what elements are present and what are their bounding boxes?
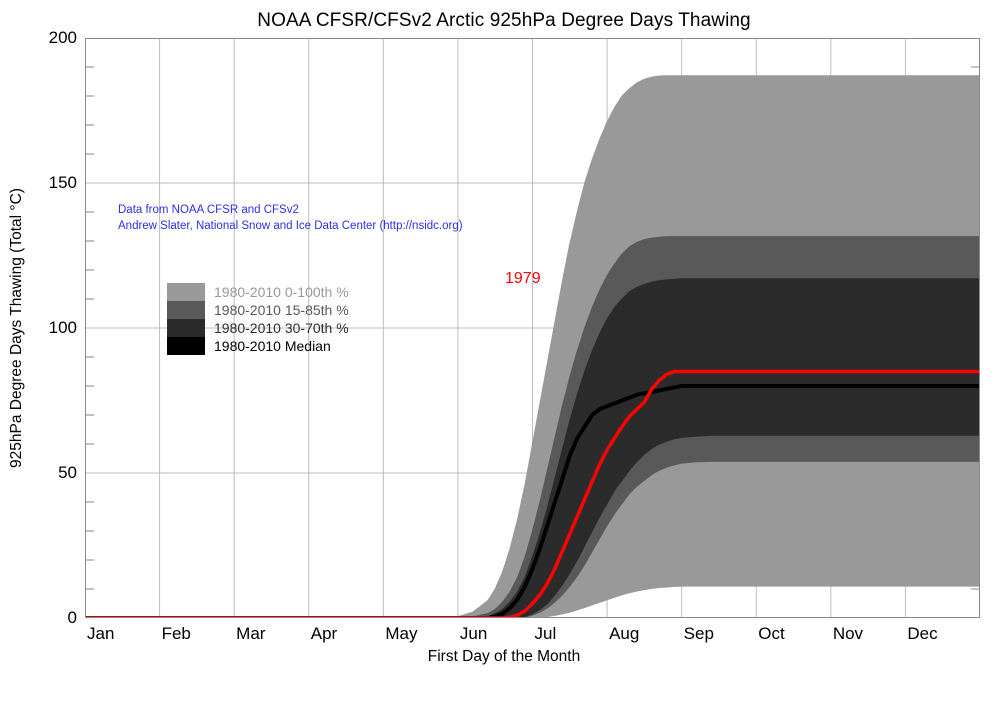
- legend-label-1: 1980-2010 15-85th %: [214, 301, 349, 319]
- legend-row-3: 1980-2010 Median: [167, 337, 349, 355]
- legend-label-0: 1980-2010 0-100th %: [214, 283, 349, 301]
- x-tick-label-aug: Aug: [609, 624, 639, 644]
- legend-label-3: 1980-2010 Median: [214, 337, 331, 355]
- legend-swatch-1: [167, 301, 205, 319]
- x-tick-label-jul: Jul: [535, 624, 557, 644]
- x-tick-label-jan: Jan: [87, 624, 114, 644]
- legend-row-0: 1980-2010 0-100th %: [167, 283, 349, 301]
- attribution-text: Data from NOAA CFSR and CFSv2 Andrew Sla…: [118, 202, 463, 234]
- legend-label-2: 1980-2010 30-70th %: [214, 319, 349, 337]
- y-tick-label-0: 0: [17, 608, 77, 628]
- chart-legend: 1980-2010 0-100th %1980-2010 15-85th %19…: [167, 283, 349, 355]
- attribution-line-2: Andrew Slater, National Snow and Ice Dat…: [118, 218, 463, 234]
- attribution-line-1: Data from NOAA CFSR and CFSv2: [118, 202, 463, 218]
- x-tick-label-apr: Apr: [311, 624, 337, 644]
- x-tick-label-dec: Dec: [907, 624, 937, 644]
- chart-title: NOAA CFSR/CFSv2 Arctic 925hPa Degree Day…: [0, 10, 1008, 32]
- legend-row-1: 1980-2010 15-85th %: [167, 301, 349, 319]
- legend-row-2: 1980-2010 30-70th %: [167, 319, 349, 337]
- year-annotation: 1979: [505, 270, 541, 288]
- legend-swatch-0: [167, 283, 205, 301]
- x-tick-label-mar: Mar: [236, 624, 265, 644]
- legend-swatch-3: [167, 337, 205, 355]
- x-tick-label-jun: Jun: [460, 624, 487, 644]
- x-axis-title: First Day of the Month: [0, 648, 1008, 666]
- y-tick-label-200: 200: [17, 28, 77, 48]
- y-tick-label-50: 50: [17, 463, 77, 483]
- chart-root: NOAA CFSR/CFSv2 Arctic 925hPa Degree Day…: [0, 0, 1008, 720]
- x-tick-label-oct: Oct: [758, 624, 784, 644]
- x-tick-label-feb: Feb: [162, 624, 191, 644]
- x-tick-label-may: May: [385, 624, 417, 644]
- x-tick-label-sep: Sep: [684, 624, 714, 644]
- y-tick-label-100: 100: [17, 318, 77, 338]
- legend-swatch-2: [167, 319, 205, 337]
- x-tick-label-nov: Nov: [833, 624, 863, 644]
- y-tick-label-150: 150: [17, 173, 77, 193]
